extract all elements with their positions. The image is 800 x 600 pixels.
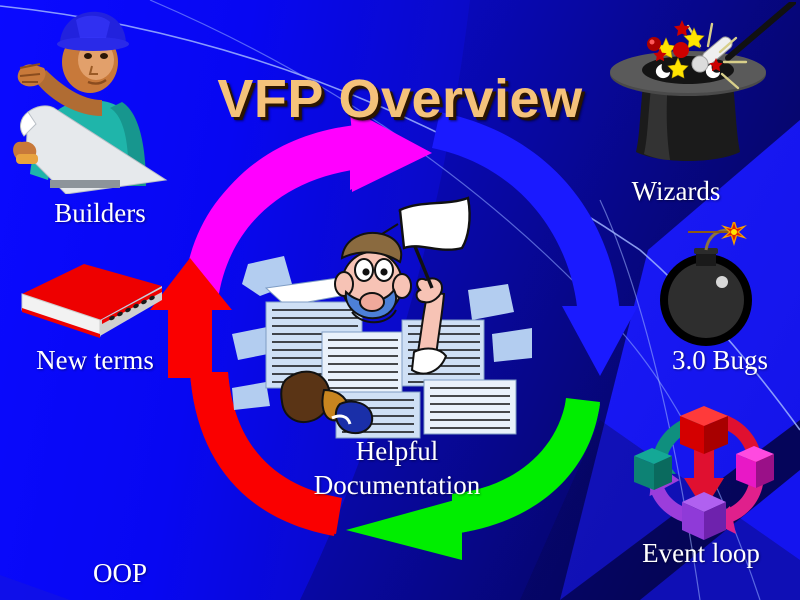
bomb-with-lit-fuse-icon [650, 222, 780, 352]
caption-wizards: Wizards [596, 176, 756, 206]
man-buried-in-paperwork-waving-flag-icon [232, 192, 532, 442]
cube-purple [682, 492, 726, 540]
caption-documentation: Helpful Documentation [266, 435, 528, 503]
caption-event-loop: Event loop [608, 538, 794, 568]
cube-red [680, 406, 728, 454]
cube-teal [634, 448, 672, 490]
red-book-icon [16, 258, 166, 348]
caption-builders: Builders [10, 198, 190, 228]
page-title: VFP Overview [0, 68, 800, 130]
cube-magenta [736, 446, 774, 488]
caption-oop: OOP [36, 558, 204, 588]
cube-cycle-diagram-icon [632, 398, 792, 543]
caption-bugs: 3.0 Bugs [640, 345, 800, 375]
caption-new-terms: New terms [0, 345, 190, 375]
slide-canvas: VFP Overview Builders New terms OOP Wiza… [0, 0, 800, 600]
